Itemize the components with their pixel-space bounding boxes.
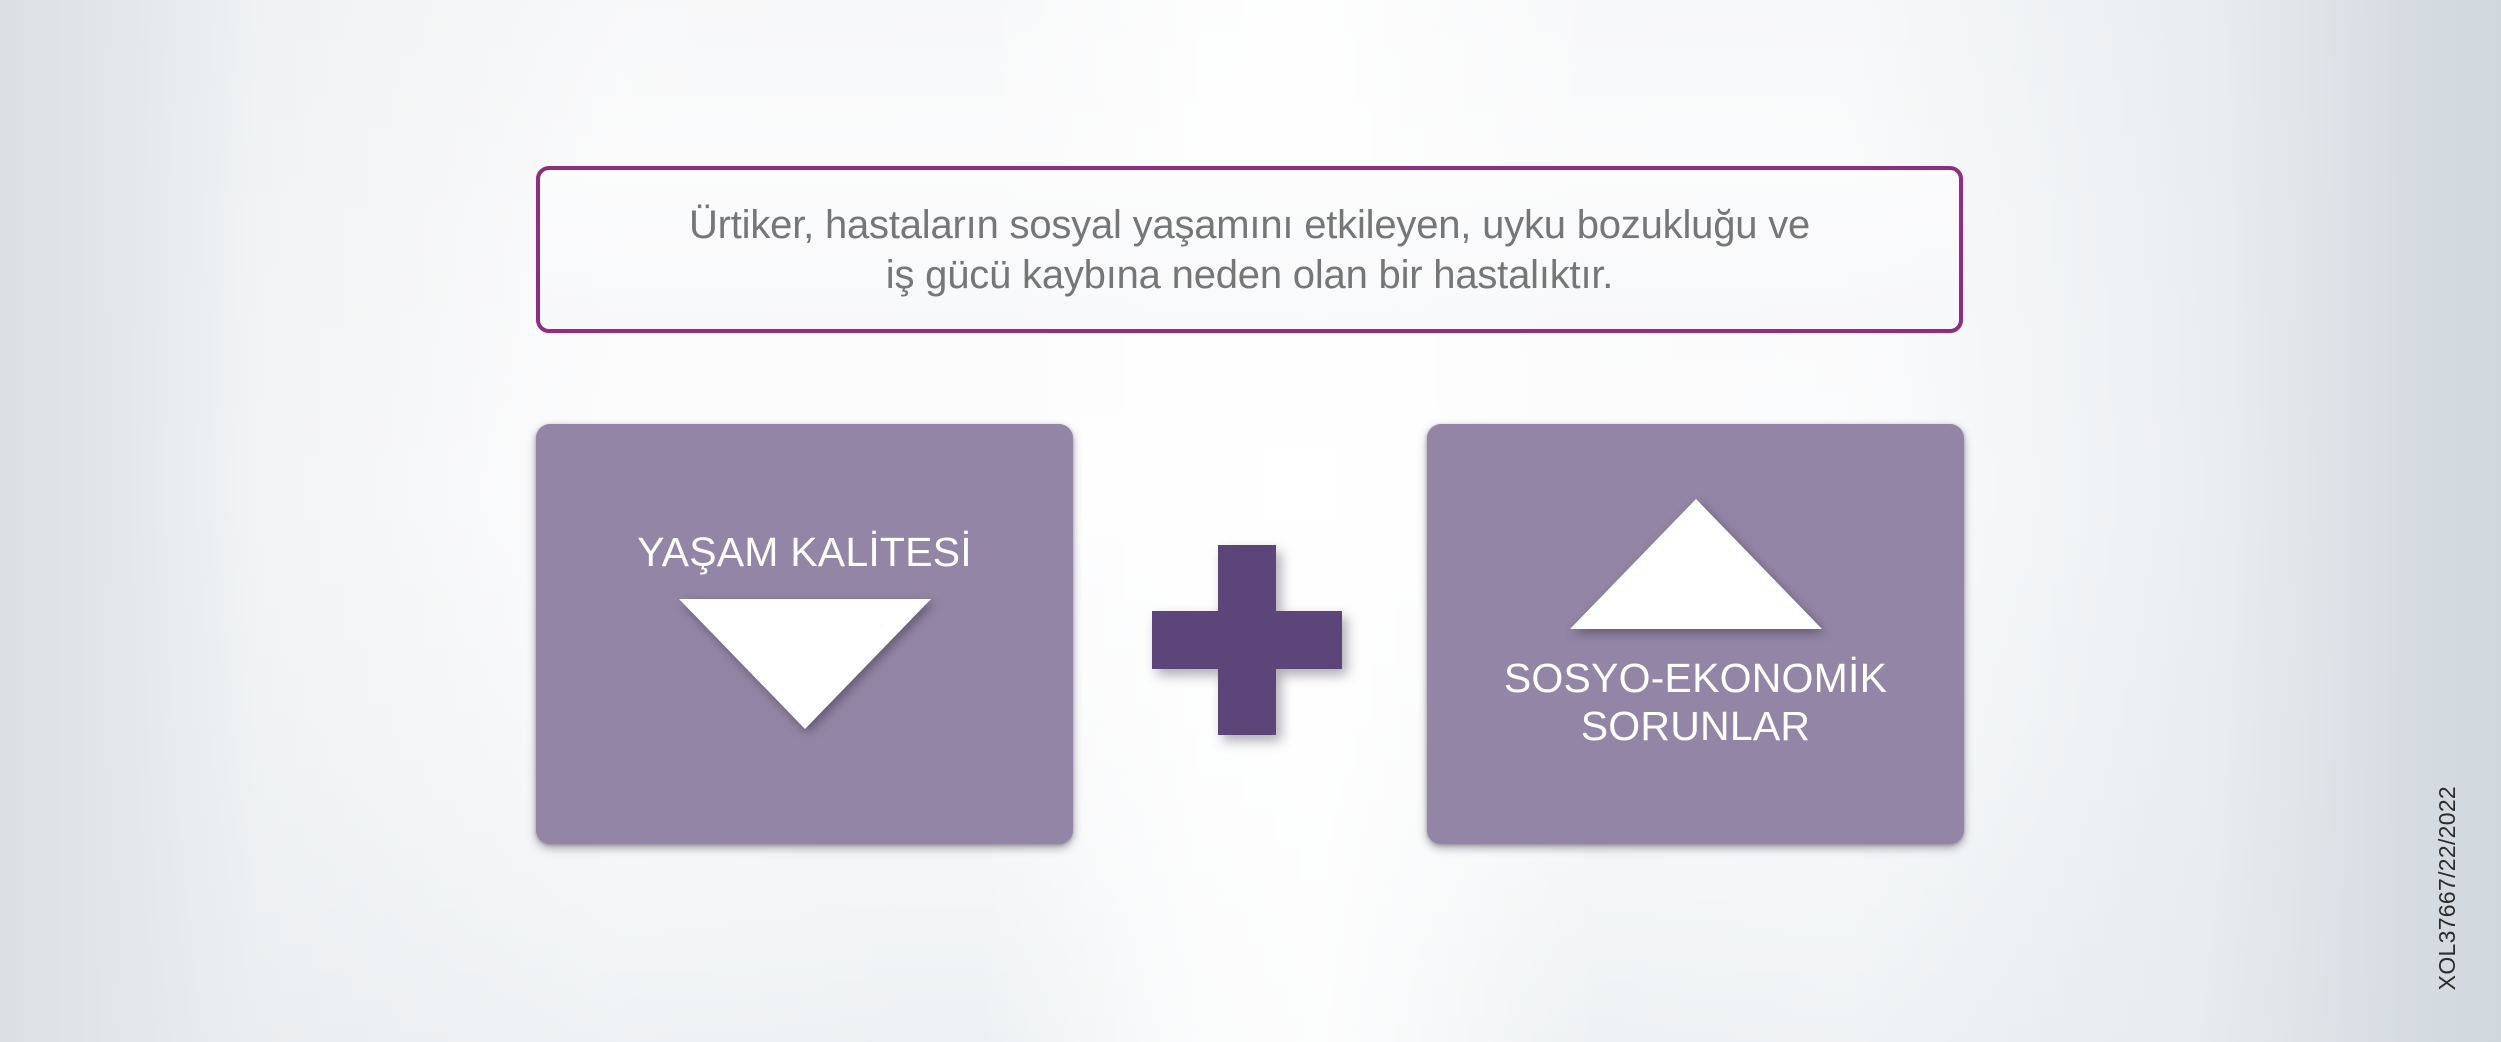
plus-icon-vertical-bar bbox=[1218, 545, 1276, 735]
slide-canvas: Ürtiker, hastaların sosyal yaşamını etki… bbox=[0, 0, 2501, 1042]
card-socio-economic-problems: SOSYO-EKONOMİK SORUNLAR bbox=[1427, 424, 1964, 844]
statement-box: Ürtiker, hastaların sosyal yaşamını etki… bbox=[536, 166, 1963, 333]
reference-code: XOL37667/22/2022 bbox=[2434, 786, 2461, 990]
arrow-up-icon bbox=[1570, 499, 1822, 629]
card-quality-of-life-content: YAŞAM KALİTESİ bbox=[536, 424, 1073, 844]
plus-icon bbox=[1152, 545, 1342, 735]
arrow-down-icon bbox=[679, 599, 931, 729]
card-socio-economic-problems-content: SOSYO-EKONOMİK SORUNLAR bbox=[1427, 424, 1964, 844]
card-quality-of-life: YAŞAM KALİTESİ bbox=[536, 424, 1073, 844]
card-quality-of-life-label: YAŞAM KALİTESİ bbox=[637, 529, 972, 577]
card-socio-economic-problems-label: SOSYO-EKONOMİK SORUNLAR bbox=[1504, 655, 1887, 751]
statement-text: Ürtiker, hastaların sosyal yaşamını etki… bbox=[663, 200, 1836, 300]
